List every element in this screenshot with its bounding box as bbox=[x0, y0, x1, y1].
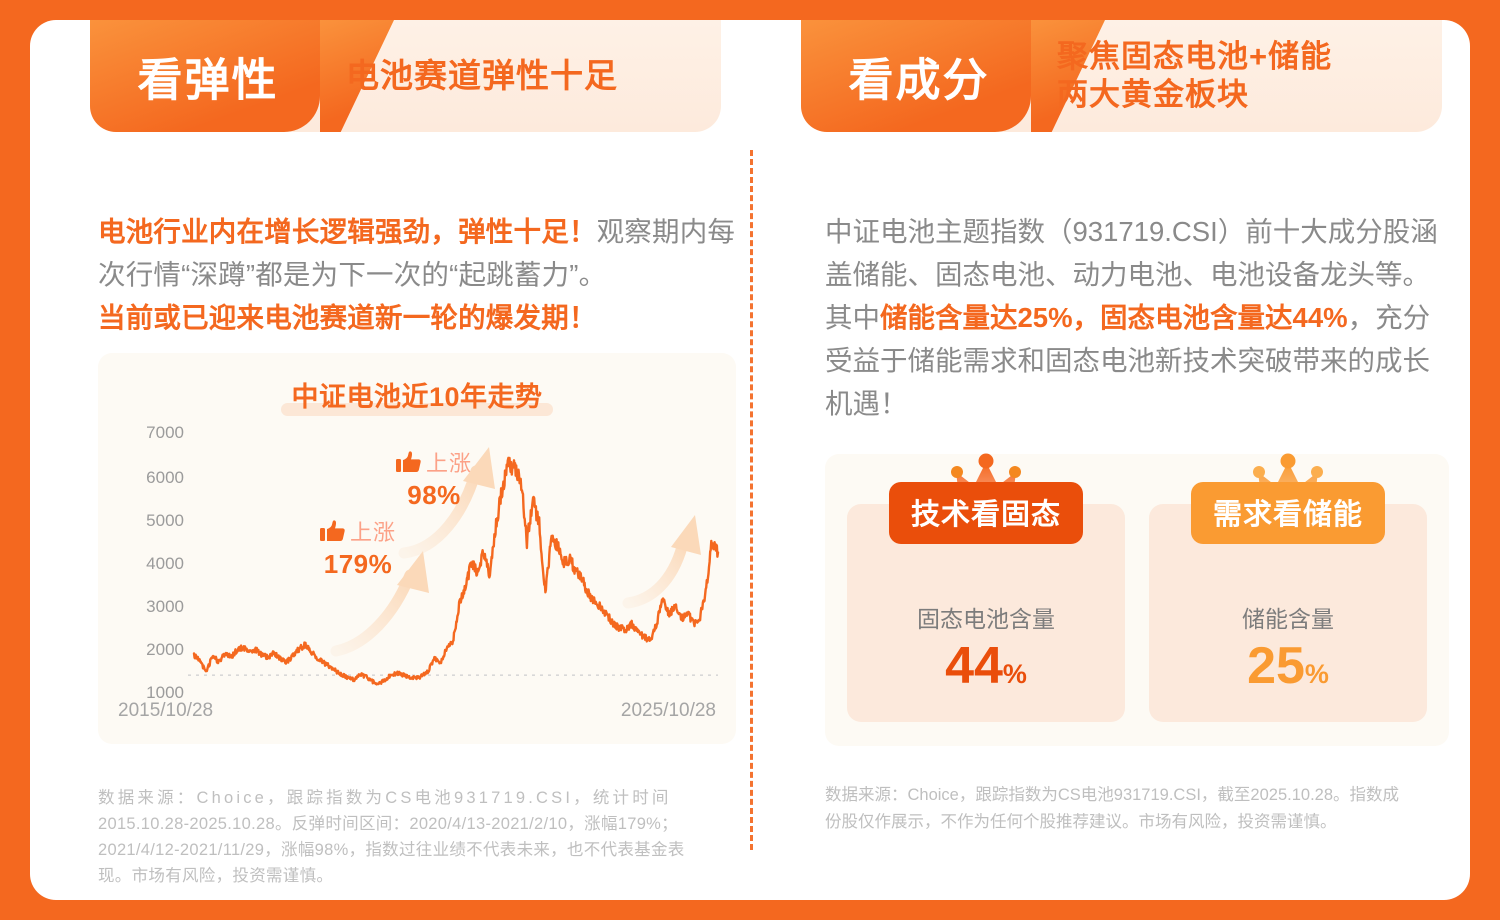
right-ribbon-title: 聚焦固态电池+储能 两大黄金板块 bbox=[1057, 38, 1332, 114]
annotation-179-row: 上涨 bbox=[320, 515, 396, 547]
poster-card: 看弹性 电池赛道弹性十足 电池行业内在增长逻辑强劲，弹性十足！观察期内每次行情“… bbox=[30, 20, 1470, 900]
right-footnote-line-2: 份股仅作展示，不作为任何个股推荐建议。市场有风险，投资需谨慎。 bbox=[825, 813, 1337, 831]
left-ribbon-tab: 看弹性 bbox=[90, 20, 320, 132]
stat-unit-energy-storage: % bbox=[1305, 659, 1329, 689]
stat-number-energy-storage: 25 bbox=[1247, 637, 1305, 695]
chart-title-text: 中证电池近10年走势 bbox=[291, 382, 542, 412]
left-footnote-line-3: 2021/4/12-2021/11/29，涨幅98%，指数过往业绩不代表未来，也… bbox=[98, 841, 685, 859]
thumbs-up-icon bbox=[396, 450, 422, 474]
stat-cards-container: 技术看固态 固态电池含量 44% bbox=[825, 454, 1449, 746]
left-panel: 看弹性 电池赛道弹性十足 电池行业内在增长逻辑强劲，弹性十足！观察期内每次行情“… bbox=[30, 20, 751, 900]
stat-pill-energy-storage: 需求看储能 bbox=[1191, 482, 1385, 544]
right-ribbon-tab: 看成分 bbox=[801, 20, 1031, 132]
chart-annotation-179: 上涨 179% bbox=[320, 515, 396, 580]
annotation-179-value: 179% bbox=[320, 549, 396, 580]
stat-pill-solid-state: 技术看固态 bbox=[889, 482, 1083, 544]
left-intro-paragraph: 电池行业内在增长逻辑强劲，弹性十足！观察期内每次行情“深蹲”都是为下一次的“起跳… bbox=[98, 210, 738, 339]
stat-card-energy-storage: 需求看储能 储能含量 25% bbox=[1149, 504, 1427, 722]
chart-card: 中证电池近10年走势 7000 6000 5000 4000 3000 2000… bbox=[98, 353, 736, 744]
right-ribbon-title-line-1: 聚焦固态电池+储能 bbox=[1057, 38, 1332, 76]
left-footnote: 数据来源：Choice，跟踪指数为CS电池931719.CSI，统计时间 201… bbox=[98, 785, 744, 889]
left-intro-highlight-2: 当前或已迎来电池赛道新一轮的爆发期！ bbox=[98, 302, 597, 333]
stat-number-solid-state: 44 bbox=[945, 637, 1003, 695]
stat-value-solid-state: 44% bbox=[847, 640, 1125, 692]
chart-annotation-98: 上涨 98% bbox=[396, 446, 472, 511]
chart-x-label-end: 2025/10/28 bbox=[621, 700, 716, 722]
thumbs-up-icon bbox=[320, 519, 346, 543]
stat-card-solid-state: 技术看固态 固态电池含量 44% bbox=[847, 504, 1125, 722]
right-ribbon-tab-label: 看成分 bbox=[801, 44, 1031, 109]
chart-arrow-final bbox=[628, 515, 701, 603]
right-panel: 看成分 聚焦固态电池+储能 两大黄金板块 中证电池主题指数（931719.CSI… bbox=[751, 20, 1470, 900]
stat-label-energy-storage: 储能含量 bbox=[1149, 600, 1427, 634]
right-intro-highlight: 储能含量达25%，固态电池含量达44% bbox=[880, 302, 1348, 333]
left-intro-highlight-1: 电池行业内在增长逻辑强劲，弹性十足！ bbox=[98, 216, 597, 247]
right-footnote: 数据来源：Choice，跟踪指数为CS电池931719.CSI，截至2025.1… bbox=[825, 782, 1445, 836]
annotation-98-value: 98% bbox=[396, 480, 472, 511]
left-footnote-line-4: 现。市场有风险，投资需谨慎。 bbox=[98, 867, 333, 885]
right-ribbon-title-line-2: 两大黄金板块 bbox=[1057, 76, 1332, 114]
left-footnote-line-1: 数据来源：Choice，跟踪指数为CS电池931719.CSI，统计时间 bbox=[98, 789, 672, 807]
stat-unit-solid-state: % bbox=[1003, 659, 1027, 689]
left-footnote-line-2: 2015.10.28-2025.10.28。反弹时间区间：2020/4/13-2… bbox=[98, 815, 678, 833]
right-ribbon: 看成分 聚焦固态电池+储能 两大黄金板块 bbox=[751, 20, 1470, 132]
annotation-98-row: 上涨 bbox=[396, 446, 472, 478]
right-footnote-line-1: 数据来源：Choice，跟踪指数为CS电池931719.CSI，截至2025.1… bbox=[825, 786, 1399, 804]
left-ribbon: 看弹性 电池赛道弹性十足 bbox=[30, 20, 751, 132]
stat-value-energy-storage: 25% bbox=[1149, 640, 1427, 692]
annotation-179-word: 上涨 bbox=[350, 515, 396, 547]
left-ribbon-tab-label: 看弹性 bbox=[90, 44, 320, 109]
left-ribbon-title: 电池赛道弹性十足 bbox=[346, 56, 618, 96]
stat-label-solid-state: 固态电池含量 bbox=[847, 600, 1125, 634]
chart-x-label-start: 2015/10/28 bbox=[118, 700, 213, 722]
right-intro-paragraph: 中证电池主题指数（931719.CSI）前十大成分股涵盖储能、固态电池、动力电池… bbox=[825, 210, 1445, 425]
annotation-98-word: 上涨 bbox=[426, 446, 472, 478]
